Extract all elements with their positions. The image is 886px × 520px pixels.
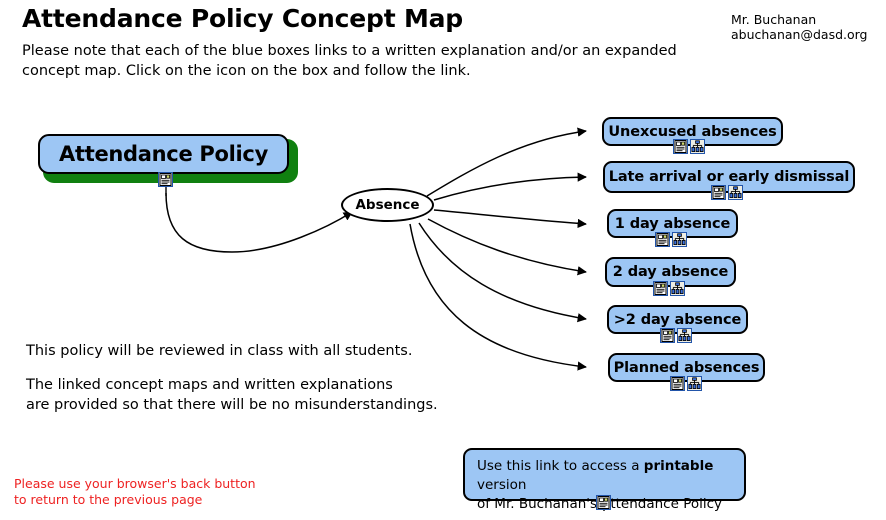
root-node-face[interactable]: Attendance Policy <box>38 134 289 174</box>
contact-block: Mr. Buchanan abuchanan@dasd.org <box>731 12 876 42</box>
concept-map-link-icon[interactable] <box>690 139 705 154</box>
edge-absence-to-leaf-1 <box>427 131 586 196</box>
icon-pair-printable-version[interactable] <box>596 495 611 510</box>
icon-pair-late-arrival[interactable] <box>711 185 743 200</box>
edge-root-to-absence <box>166 193 352 252</box>
contact-email: abuchanan@dasd.org <box>731 27 876 42</box>
edge-absence-to-leaf-3 <box>434 210 586 224</box>
leaf-label: Late arrival or early dismissal <box>600 169 859 185</box>
policy-note-review: This policy will be reviewed in class wi… <box>26 341 412 361</box>
document-link-icon[interactable] <box>660 328 675 343</box>
document-link-icon[interactable] <box>673 139 688 154</box>
intro-instructions: Please note that each of the blue boxes … <box>22 41 702 81</box>
concept-map-link-icon[interactable] <box>687 376 702 391</box>
document-link-icon[interactable] <box>670 376 685 391</box>
leaf-label: 2 day absence <box>604 264 737 280</box>
back-button-note: Please use your browser's back button to… <box>14 476 256 508</box>
document-link-icon[interactable] <box>655 232 670 247</box>
printable-text-line1: Use this link to access a printable vers… <box>477 457 732 495</box>
concept-map-canvas: Attendance Policy Concept Map Please not… <box>0 0 886 520</box>
leaf-label: >2 day absence <box>605 312 751 328</box>
icon-pair-gt-2-day-absence[interactable] <box>660 328 692 343</box>
document-link-icon[interactable] <box>158 172 173 187</box>
node-absence: Absence <box>341 188 434 222</box>
document-link-icon[interactable] <box>596 495 611 510</box>
printable-text-emphasis: printable <box>644 458 714 474</box>
leaf-label: Planned absences <box>605 360 769 376</box>
printable-text-before: Use this link to access a <box>477 458 644 474</box>
edge-absence-to-leaf-2 <box>434 177 586 200</box>
absence-node-label: Absence <box>355 197 419 213</box>
root-node-icon-pair[interactable] <box>158 172 173 187</box>
leaf-label: 1 day absence <box>606 216 739 232</box>
icon-pair-planned-absences[interactable] <box>670 376 702 391</box>
contact-name: Mr. Buchanan <box>731 12 876 27</box>
back-button-note-line2: to return to the previous page <box>14 492 256 508</box>
back-button-note-line1: Please use your browser's back button <box>14 476 256 492</box>
root-node-label: Attendance Policy <box>59 142 268 166</box>
edge-absence-to-leaf-6 <box>410 224 586 367</box>
icon-pair-2-day-absence[interactable] <box>653 281 685 296</box>
policy-note-linked-maps: The linked concept maps and written expl… <box>26 375 438 415</box>
leaf-label: Unexcused absences <box>599 124 785 140</box>
printable-text-after: version <box>477 477 526 493</box>
concept-map-link-icon[interactable] <box>670 281 685 296</box>
concept-map-link-icon[interactable] <box>672 232 687 247</box>
edge-absence-to-leaf-4 <box>428 219 586 272</box>
icon-pair-1-day-absence[interactable] <box>655 232 687 247</box>
policy-note-linked-maps-line2: are provided so that there will be no mi… <box>26 395 438 415</box>
icon-pair-unexcused-absences[interactable] <box>673 139 705 154</box>
concept-map-link-icon[interactable] <box>728 185 743 200</box>
policy-note-linked-maps-line1: The linked concept maps and written expl… <box>26 375 438 395</box>
document-link-icon[interactable] <box>711 185 726 200</box>
page-title: Attendance Policy Concept Map <box>22 4 463 33</box>
concept-map-link-icon[interactable] <box>677 328 692 343</box>
document-link-icon[interactable] <box>653 281 668 296</box>
edge-absence-to-leaf-5 <box>419 223 586 319</box>
node-printable-version[interactable]: Use this link to access a printable vers… <box>463 448 746 501</box>
